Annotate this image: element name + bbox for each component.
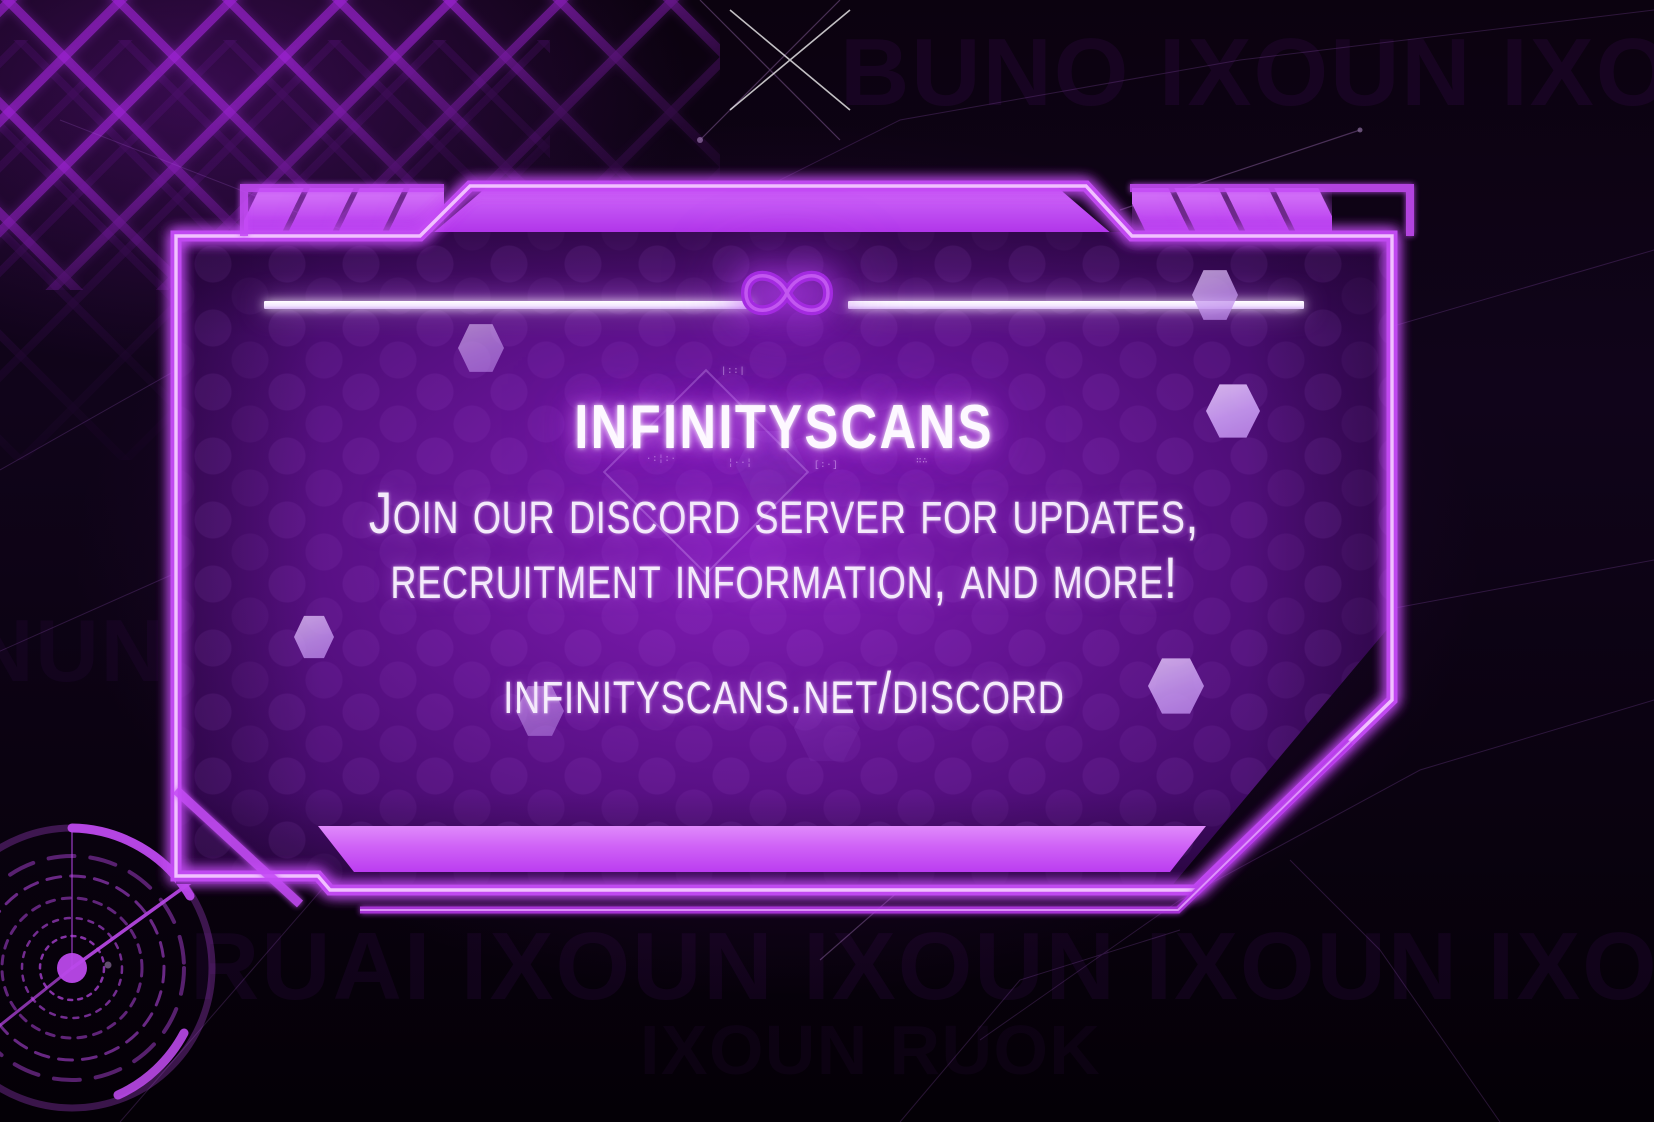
tagline-line-1: JOIN OUR DISCORD SERVER FOR UPDATES,: [298, 482, 1271, 547]
divider-right: [848, 301, 1304, 309]
panel-content: |::| ·:¦:· ¦··¦ [:·] ∷∴ INFINITYSCANS JO…: [176, 232, 1392, 884]
divider-left: [264, 301, 754, 309]
banner-canvas: BUNO IXOUN IXOUN NOVI NUNI IXOUN RUIU RU…: [0, 0, 1654, 1122]
tagline-line-2: RECRUITMENT INFORMATION, AND MORE!: [298, 547, 1271, 612]
hexagon-accent-1: [458, 322, 504, 374]
tagline: JOIN OUR DISCORD SERVER FOR UPDATES, REC…: [298, 482, 1271, 612]
hexagon-accent-4: [294, 614, 334, 660]
infinity-icon: [732, 258, 842, 328]
brand-title: INFINITYSCANS: [285, 392, 1282, 463]
hud-mark-1: |::|: [721, 366, 745, 376]
hexagon-accent-2: [1192, 268, 1238, 322]
discord-url[interactable]: INFINITYSCANS.NET/DISCORD: [298, 660, 1271, 727]
